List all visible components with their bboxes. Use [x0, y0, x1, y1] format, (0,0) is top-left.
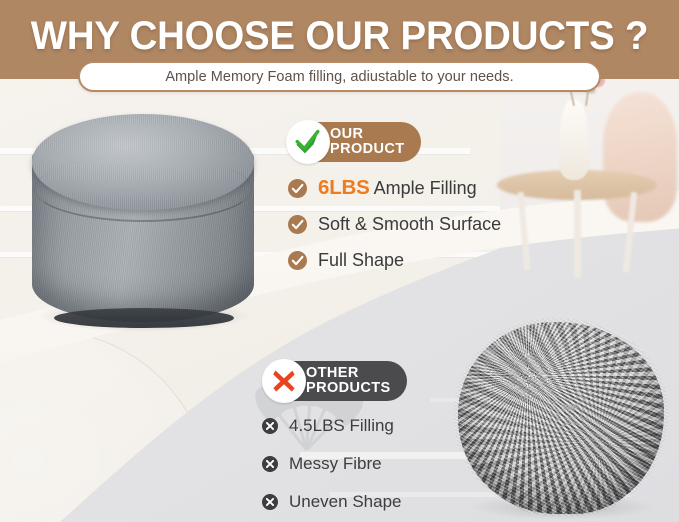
- other-products-badge: OTHER PRODUCTS: [264, 361, 407, 401]
- feature-text: Messy Fibre: [289, 454, 382, 474]
- feature-highlight: 6LBS: [318, 176, 370, 199]
- list-item: 6LBS Ample Filling: [288, 174, 501, 202]
- pouf-base: [54, 308, 234, 328]
- red-x-icon: [262, 359, 306, 403]
- list-item: Uneven Shape: [262, 488, 401, 516]
- list-item: Full Shape: [288, 246, 501, 274]
- feature-label: Full Shape: [318, 250, 404, 270]
- feature-label: Uneven Shape: [289, 492, 401, 511]
- background-blush-vase: [603, 92, 677, 222]
- list-item: 4.5LBS Filling: [262, 412, 401, 440]
- list-item: Messy Fibre: [262, 450, 401, 478]
- subtitle-text: Ample Memory Foam filling, adiustable to…: [165, 69, 513, 85]
- our-product-badge: OUR PRODUCT: [288, 122, 421, 162]
- check-circle-icon: [288, 251, 307, 270]
- other-product-image: [452, 318, 674, 522]
- background-table-leg: [574, 190, 581, 278]
- pouf-seam: [34, 156, 252, 222]
- feature-label: Ample Filling: [370, 178, 477, 198]
- feature-label: 4.5LBS Filling: [289, 416, 394, 435]
- feature-label: Messy Fibre: [289, 454, 382, 473]
- x-circle-icon: [262, 418, 278, 434]
- page-title: WHY CHOOSE OUR PRODUCTS ?: [14, 14, 666, 59]
- our-product-feature-list: 6LBS Ample Filling Soft & Smooth Surface…: [288, 174, 501, 282]
- background-table-leg: [518, 192, 531, 270]
- our-product-badge-label: OUR PRODUCT: [330, 127, 405, 157]
- infographic-canvas: WHY CHOOSE OUR PRODUCTS ? Ample Memory F…: [0, 0, 679, 522]
- check-circle-icon: [288, 215, 307, 234]
- feature-text: Full Shape: [318, 250, 404, 271]
- x-circle-icon: [262, 494, 278, 510]
- our-product-image: [24, 112, 270, 340]
- feature-text: 6LBS Ample Filling: [318, 176, 477, 200]
- feature-text: 4.5LBS Filling: [289, 416, 394, 436]
- messy-pouf-fuzz-texture: [454, 318, 668, 516]
- x-circle-icon: [262, 456, 278, 472]
- green-check-icon: [286, 120, 330, 164]
- feature-text: Uneven Shape: [289, 492, 401, 512]
- feature-label: Soft & Smooth Surface: [318, 214, 501, 234]
- list-item: Soft & Smooth Surface: [288, 210, 501, 238]
- other-products-badge-label: OTHER PRODUCTS: [306, 366, 391, 396]
- other-products-feature-list: 4.5LBS Filling Messy Fibre Uneven Shape: [262, 412, 401, 522]
- check-circle-icon: [288, 179, 307, 198]
- subtitle-pill: Ample Memory Foam filling, adiustable to…: [78, 61, 601, 92]
- background-white-vase: [559, 100, 589, 180]
- feature-text: Soft & Smooth Surface: [318, 214, 501, 235]
